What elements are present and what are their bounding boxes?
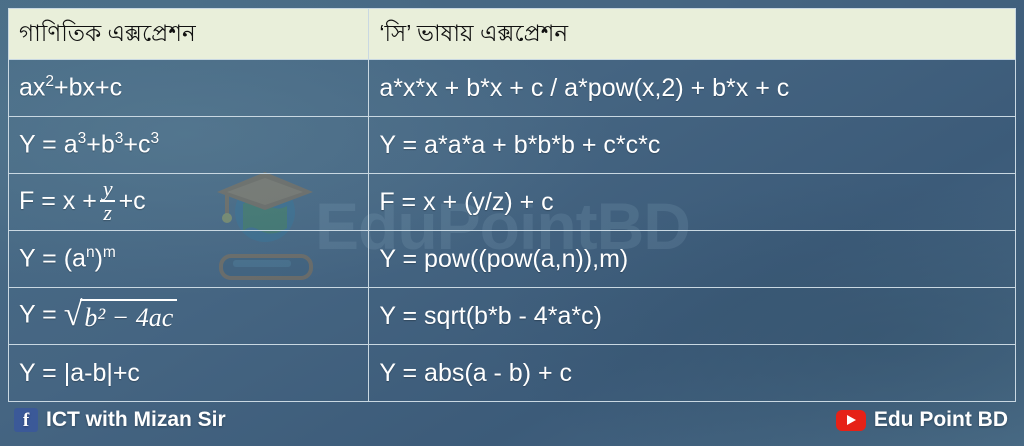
youtube-brand[interactable]: Edu Point BD — [836, 408, 1008, 432]
table-row: Y = |a-b|+c Y = abs(a - b) + c — [9, 345, 1016, 402]
facebook-page-label: ICT with Mizan Sir — [46, 408, 226, 432]
math-pre: F = x + — [19, 187, 97, 215]
math-mid: ) — [95, 245, 103, 273]
math-pre: Y = (a — [19, 245, 86, 273]
math-post: +bx+c — [54, 74, 122, 102]
column-header-math: গাণিতিক এক্সপ্রেশন — [9, 9, 369, 60]
math-sup: m — [103, 244, 116, 261]
math-sup: 3 — [151, 130, 160, 147]
math-sup: n — [86, 244, 95, 261]
math-sup: 3 — [78, 130, 87, 147]
square-root: √b² − 4ac — [64, 299, 178, 333]
youtube-icon[interactable] — [836, 410, 866, 431]
math-sup: 2 — [45, 73, 54, 90]
math-expression-cell: Y = √b² − 4ac — [9, 288, 369, 345]
facebook-icon[interactable]: f — [14, 408, 38, 432]
math-pre: ax — [19, 74, 45, 102]
math-expression-cell: F = x +yz+c — [9, 174, 369, 231]
column-header-c: ‘সি’ ভাষায় এক্সপ্রেশন — [369, 9, 1016, 60]
youtube-channel-label: Edu Point BD — [874, 408, 1008, 432]
math-post: +c — [119, 187, 146, 215]
fraction-denominator: z — [100, 200, 115, 224]
c-expression-cell: F = x + (y/z) + c — [369, 174, 1016, 231]
table-row: F = x +yz+c F = x + (y/z) + c — [9, 174, 1016, 231]
math-expression-cell: Y = |a-b|+c — [9, 345, 369, 402]
fraction-numerator: y — [100, 178, 116, 200]
math-mid: +b — [86, 131, 115, 159]
math-mid: +c — [123, 131, 150, 159]
slide-canvas: EduPointBD গাণিতিক এক্সপ্রেশন ‘সি’ ভাষায… — [0, 0, 1024, 446]
math-expression-cell: ax2+bx+c — [9, 60, 369, 117]
table-row: Y = √b² − 4ac Y = sqrt(b*b - 4*a*c) — [9, 288, 1016, 345]
table-row: Y = a3+b3+c3 Y = a*a*a + b*b*b + c*c*c — [9, 117, 1016, 174]
math-expression-cell: Y = a3+b3+c3 — [9, 117, 369, 174]
facebook-brand[interactable]: f ICT with Mizan Sir — [14, 408, 226, 432]
expression-table: গাণিতিক এক্সপ্রেশন ‘সি’ ভাষায় এক্সপ্রেশ… — [8, 8, 1016, 402]
table-row: ax2+bx+c a*x*x + b*x + c / a*pow(x,2) + … — [9, 60, 1016, 117]
c-expression-cell: Y = sqrt(b*b - 4*a*c) — [369, 288, 1016, 345]
footer: f ICT with Mizan Sir Edu Point BD — [0, 396, 1024, 446]
fraction: yz — [100, 178, 116, 225]
math-expression-cell: Y = (an)m — [9, 231, 369, 288]
c-expression-cell: a*x*x + b*x + c / a*pow(x,2) + b*x + c — [369, 60, 1016, 117]
math-pre: Y = a — [19, 131, 78, 159]
c-expression-cell: Y = a*a*a + b*b*b + c*c*c — [369, 117, 1016, 174]
table-row: Y = (an)m Y = pow((pow(a,n)),m) — [9, 231, 1016, 288]
radicand: b² − 4ac — [80, 299, 177, 333]
c-expression-cell: Y = pow((pow(a,n)),m) — [369, 231, 1016, 288]
math-pre: Y = — [19, 301, 64, 329]
c-expression-cell: Y = abs(a - b) + c — [369, 345, 1016, 402]
table-header-row: গাণিতিক এক্সপ্রেশন ‘সি’ ভাষায় এক্সপ্রেশ… — [9, 9, 1016, 60]
